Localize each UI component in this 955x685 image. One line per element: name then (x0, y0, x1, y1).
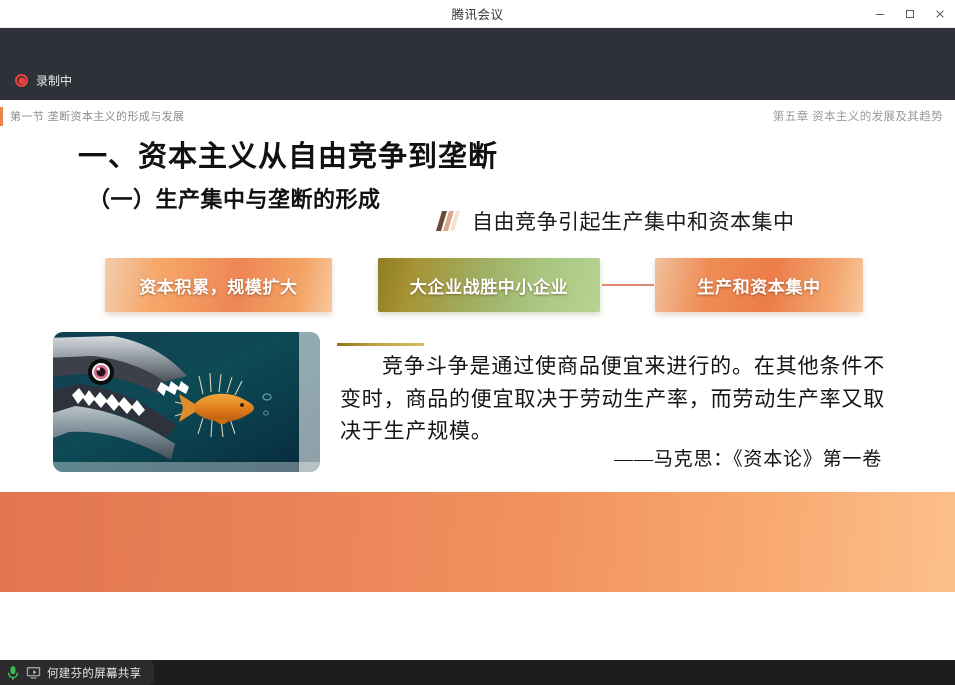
close-button[interactable] (925, 0, 955, 28)
minimize-button[interactable] (865, 0, 895, 28)
slide-title: 一、资本主义从自由竞争到垄断 (78, 133, 498, 175)
slide-header: 第一节 垄断资本主义的形成与发展 第五章 资本主义的发展及其趋势 (0, 106, 955, 128)
flow-box-1-label: 资本积累，规模扩大 (139, 273, 297, 298)
slide-subtitle: （一）生产集中与垄断的形成 (88, 182, 381, 214)
quote-rule (337, 343, 424, 346)
flow-connector-line (602, 284, 654, 286)
big-fish-eating-small-fish-illustration (53, 332, 320, 472)
slanted-bars-icon (433, 209, 461, 233)
flow-box-1: 资本积累，规模扩大 (105, 258, 332, 312)
flow-box-2: 大企业战胜中小企业 (378, 258, 600, 312)
tencent-meeting-window: 腾讯会议 录制中 (0, 0, 955, 685)
recording-status[interactable]: 录制中 (15, 72, 72, 89)
maximize-button[interactable] (895, 0, 925, 28)
slide-header-section: 第一节 垄断资本主义的形成与发展 (10, 108, 184, 124)
shared-slide: 第一节 垄断资本主义的形成与发展 第五章 资本主义的发展及其趋势 一、资本主义从… (0, 100, 955, 660)
quote-text: 竞争斗争是通过使商品便宜来进行的。在其他条件不变时，商品的便宜取决于劳动生产率，… (340, 350, 885, 448)
slide-header-chapter: 第五章 资本主义的发展及其趋势 (773, 108, 943, 124)
recording-label: 录制中 (36, 72, 72, 89)
recording-bar: 录制中 (0, 28, 955, 100)
window-title: 腾讯会议 (451, 4, 503, 23)
meeting-taskbar: 何建芬的屏幕共享 (0, 660, 955, 685)
close-icon (934, 8, 946, 20)
screen-share-status[interactable]: 何建芬的屏幕共享 (0, 660, 154, 685)
screen-share-icon[interactable] (26, 666, 41, 679)
fish-illustration-graphic (53, 332, 320, 472)
bullet-row: 自由竞争引起生产集中和资本集中 (433, 206, 795, 236)
record-dot-icon (15, 74, 28, 87)
share-label: 何建芬的屏幕共享 (47, 665, 141, 681)
slide-footer: 广州工商学院 ——马克思主义学院 马克思主义基本原理 (0, 592, 955, 660)
minimize-icon (874, 8, 886, 20)
quote-attribution: ——马克思：《资本论》第一卷 (614, 444, 882, 471)
bullet-text: 自由竞争引起生产集中和资本集中 (472, 206, 795, 236)
flow-box-2-label: 大企业战胜中小企业 (410, 273, 568, 298)
header-accent-bar (0, 107, 3, 126)
flow-box-3: 生产和资本集中 (655, 258, 863, 312)
decorative-orange-band (0, 492, 955, 592)
window-titlebar: 腾讯会议 (0, 0, 955, 28)
flow-diagram: 资本积累，规模扩大 大企业战胜中小企业 生产和资本集中 (0, 258, 955, 324)
window-controls (865, 0, 955, 28)
microphone-icon[interactable] (6, 665, 20, 681)
maximize-icon (904, 8, 916, 20)
flow-box-3-label: 生产和资本集中 (697, 273, 820, 298)
